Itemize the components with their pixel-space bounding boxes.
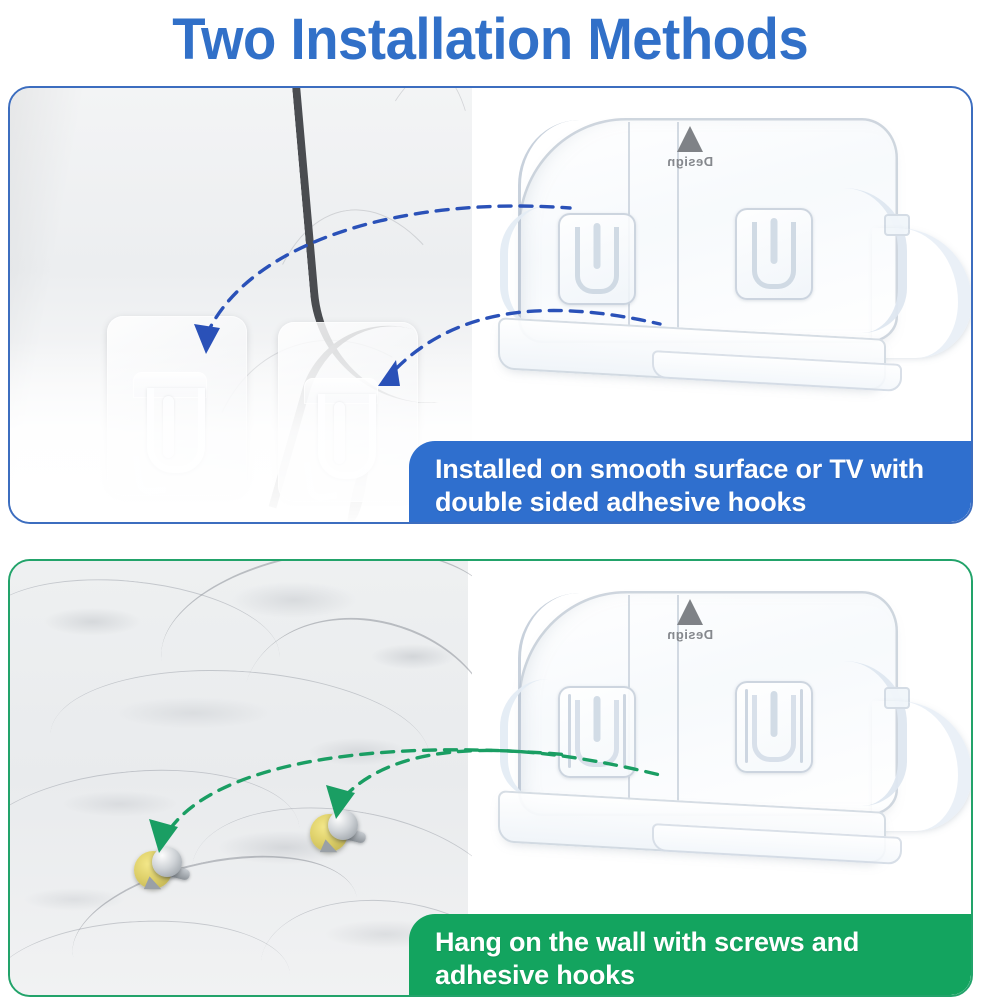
hook-icon — [133, 388, 207, 496]
decor-leaf — [347, 467, 368, 522]
method-panel-adhesive: Design Instal — [8, 86, 973, 524]
keyhole-slot-right — [735, 681, 813, 773]
brand-logo: Design — [655, 599, 725, 642]
page-title: Two Installation Methods — [173, 11, 809, 69]
brand-name: Design — [655, 627, 725, 642]
clear-acrylic-holder: Design — [492, 110, 971, 410]
adhesive-hook-pad-right — [278, 322, 418, 502]
marble-vein — [10, 913, 293, 995]
marble-wall-photo — [10, 561, 468, 995]
keyhole-slot-right — [735, 208, 813, 300]
hook-icon — [304, 394, 378, 502]
caption-line-2: adhesive hooks — [435, 959, 955, 992]
power-cable — [292, 88, 448, 413]
wall-screw-right — [310, 808, 366, 860]
page-title-bar: Two Installation Methods — [0, 0, 981, 80]
caption-adhesive: Installed on smooth surface or TV with d… — [409, 441, 971, 522]
method-panel-screws: Design — [8, 559, 973, 997]
keyhole-slot-left — [558, 213, 636, 305]
smooth-white-surface-photo — [10, 88, 472, 522]
caption-screws: Hang on the wall with screws and adhesiv… — [409, 914, 971, 995]
marble-vein — [10, 757, 306, 926]
mountain-icon — [677, 599, 703, 625]
panel-adhesive-inner: Design Instal — [10, 88, 971, 522]
mountain-icon — [677, 126, 703, 152]
panel-screws-inner: Design — [10, 561, 971, 995]
adhesive-hook-pad-left — [107, 316, 247, 496]
brand-logo: Design — [655, 126, 725, 169]
marble-vein — [10, 566, 286, 718]
marble-vein — [150, 561, 511, 746]
caption-line-1: Hang on the wall with screws and — [435, 926, 955, 959]
brand-name: Design — [655, 154, 725, 169]
clear-acrylic-holder: Design — [492, 583, 971, 883]
caption-line-1: Installed on smooth surface or TV with — [435, 453, 955, 486]
caption-line-2: double sided adhesive hooks — [435, 486, 955, 519]
wall-screw-left — [134, 845, 190, 897]
keyhole-slot-left — [558, 686, 636, 778]
marble-vein — [45, 658, 435, 835]
